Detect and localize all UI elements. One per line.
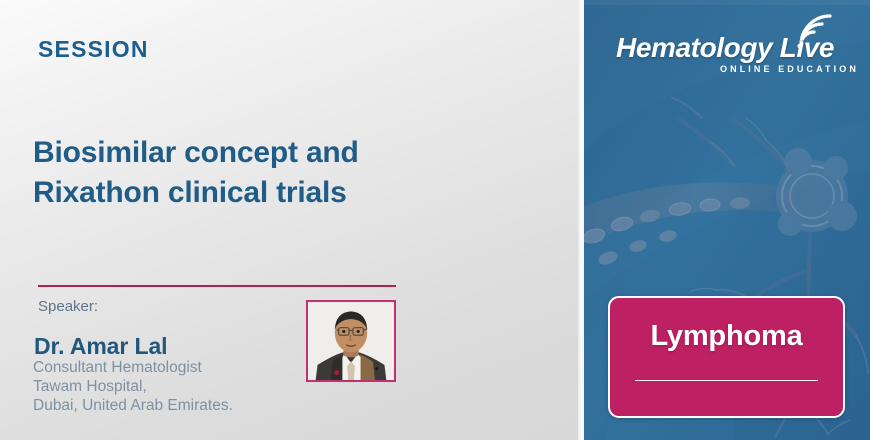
brand-wordmark: Hematology Live bbox=[616, 32, 834, 64]
speaker-affiliation-line-2: Tawam Hospital, bbox=[33, 377, 233, 396]
section-divider bbox=[38, 285, 396, 287]
speaker-name: Dr. Amar Lal bbox=[34, 333, 167, 360]
topic-badge[interactable]: Lymphoma bbox=[608, 296, 845, 418]
session-label: SESSION bbox=[38, 36, 149, 63]
page-title: Biosimilar concept and Rixathon clinical… bbox=[33, 133, 533, 213]
left-content-panel: SESSION Biosimilar concept and Rixathon … bbox=[0, 0, 584, 440]
topic-badge-underline bbox=[635, 380, 818, 381]
session-slide: SESSION Biosimilar concept and Rixathon … bbox=[0, 0, 870, 440]
speaker-label: Speaker: bbox=[38, 298, 98, 315]
page-title-line-1: Biosimilar concept and bbox=[33, 133, 533, 173]
speaker-portrait-icon bbox=[308, 302, 394, 380]
brand-logo: Hematology Live ONLINE EDUCATION bbox=[602, 14, 852, 80]
speaker-affiliation: Consultant Hematologist Tawam Hospital, … bbox=[33, 358, 233, 415]
page-title-line-2: Rixathon clinical trials bbox=[33, 173, 533, 213]
speaker-affiliation-line-1: Consultant Hematologist bbox=[33, 358, 233, 377]
topic-badge-label: Lymphoma bbox=[610, 320, 843, 353]
speaker-affiliation-line-3: Dubai, United Arab Emirates. bbox=[33, 396, 233, 415]
brand-tagline: ONLINE EDUCATION bbox=[720, 64, 859, 74]
speaker-avatar bbox=[306, 300, 396, 382]
right-brand-panel: Hematology Live ONLINE EDUCATION Lymphom… bbox=[584, 0, 870, 440]
